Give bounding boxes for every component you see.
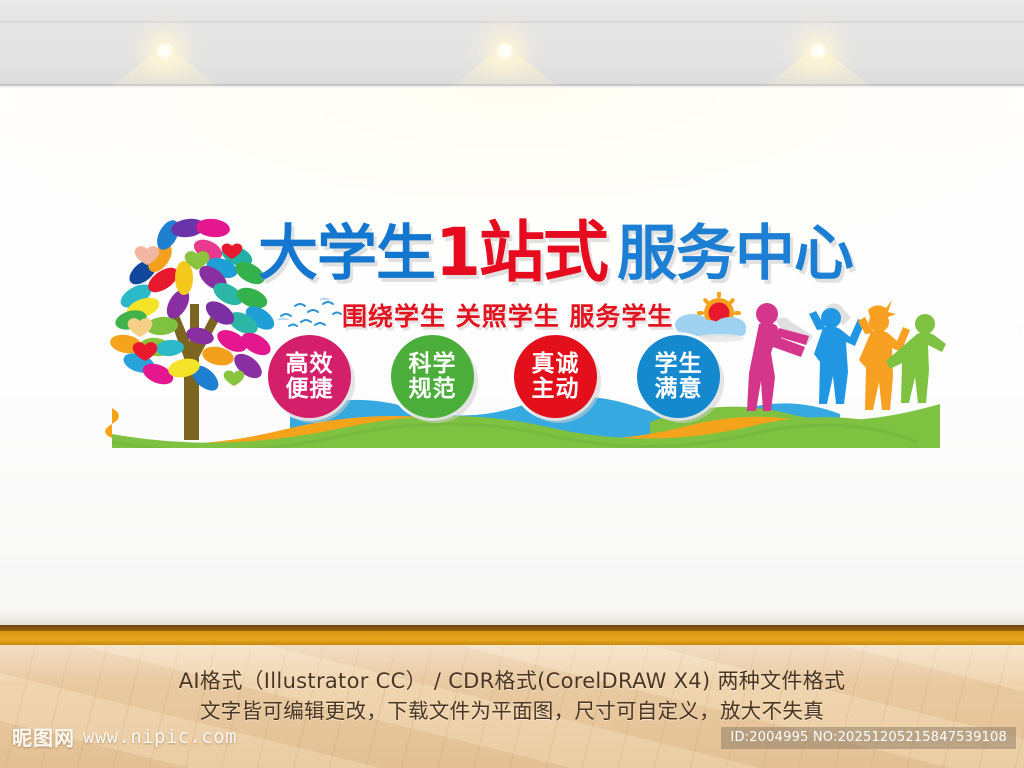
wall-bottom-shadow (0, 610, 1024, 626)
title-segment-1: 大学生 (258, 224, 435, 284)
ceiling-spot-center-icon (496, 42, 514, 60)
ceiling-spot-left-icon (156, 42, 174, 60)
badge-sincere[interactable]: 真诚 主动 (514, 335, 597, 418)
watermark: 昵图网 www.nipic.com (12, 722, 237, 751)
title-segment-3: 服务中心 (617, 224, 853, 284)
badge-satisfied-line1: 学生 (655, 352, 703, 377)
badge-scientific[interactable]: 科学 规范 (391, 335, 474, 418)
ceiling (0, 0, 1024, 22)
watermark-brand: 昵图网 (12, 722, 75, 751)
badge-satisfied[interactable]: 学生 满意 (637, 335, 720, 418)
footer-caption: AI格式（Illustrator CC） / CDR格式(CorelDRAW X… (0, 666, 1024, 726)
floor-front-edge (0, 631, 1024, 645)
page-title: 大学生 1站式 服务中心 (258, 222, 853, 284)
ceiling-spot-right-icon (809, 42, 827, 60)
badge-sincere-line2: 主动 (532, 377, 580, 402)
subtitle-slogan: 围绕学生 关照学生 服务学生 (342, 297, 673, 333)
wall-art-composition: 大学生 1站式 服务中心 围绕学生 关照学生 服务学生 (90, 200, 940, 470)
student-silhouettes-icon (735, 290, 950, 440)
screenshot-stage: 大学生 1站式 服务中心 围绕学生 关照学生 服务学生 (0, 0, 1024, 768)
badge-row: 高效 便捷 科学 规范 真诚 主动 学生 满意 (268, 335, 720, 418)
badge-sincere-line1: 真诚 (532, 352, 580, 377)
badge-scientific-line1: 科学 (409, 352, 457, 377)
badge-efficient-line1: 高效 (286, 352, 334, 377)
badge-efficient-line2: 便捷 (286, 377, 334, 402)
watermark-url: www.nipic.com (83, 726, 237, 748)
footer-caption-line1: AI格式（Illustrator CC） / CDR格式(CorelDRAW X… (0, 666, 1024, 696)
badge-satisfied-line2: 满意 (655, 377, 703, 402)
asset-id-tag: ID:2004995 NO:20251205215847539108 (721, 727, 1016, 749)
badge-scientific-line2: 规范 (409, 377, 457, 402)
badge-efficient[interactable]: 高效 便捷 (268, 335, 351, 418)
title-segment-2: 1站式 (435, 222, 607, 284)
